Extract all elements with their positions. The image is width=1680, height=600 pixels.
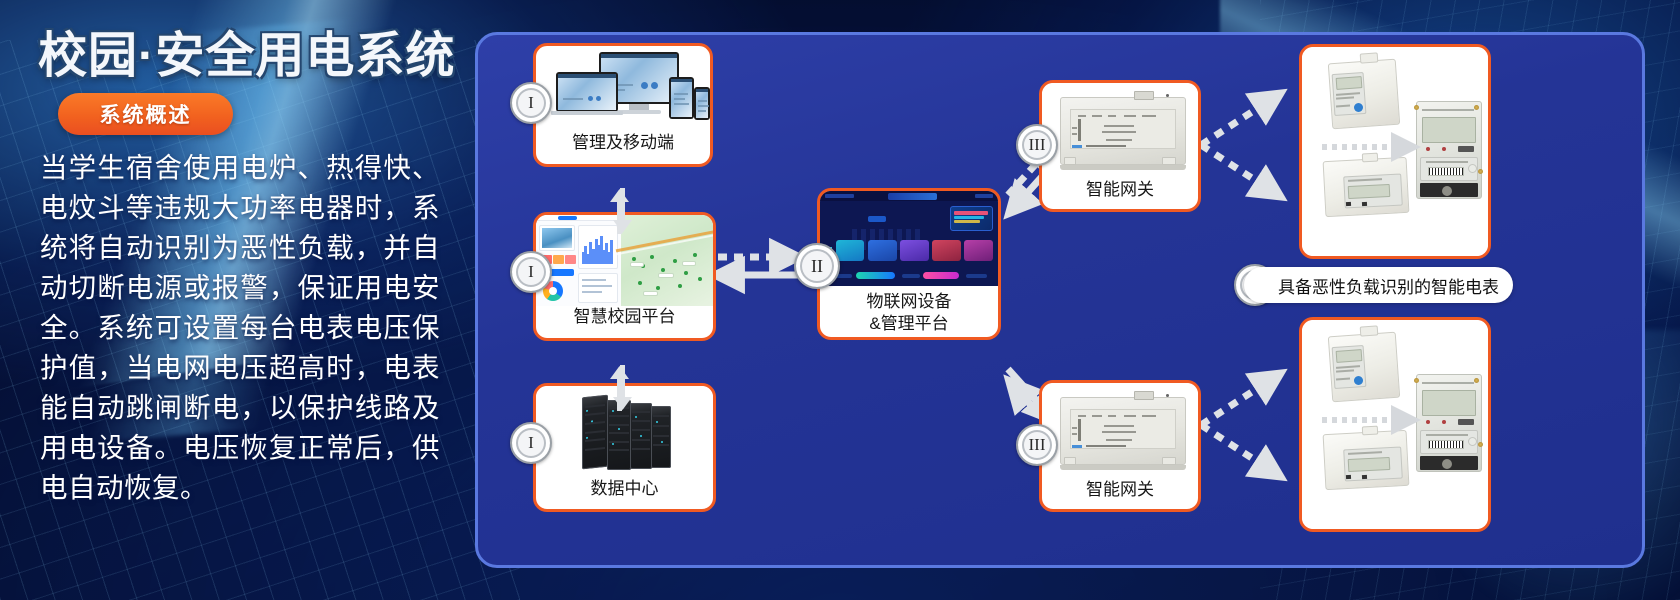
node-iot-label-line1: 物联网设备: [820, 291, 998, 313]
node-gateway-top-card[interactable]: 智能网关: [1039, 80, 1201, 212]
meters-top-thumbnail: [1302, 47, 1488, 256]
section-badge: 系统概述: [58, 93, 233, 135]
marker-gateway-bottom: III: [1016, 424, 1058, 466]
architecture-diagram-panel: 管理及移动端 I: [475, 32, 1645, 568]
meters-panel-top[interactable]: [1299, 44, 1491, 259]
left-info-column: 校园·安全用电系统 系统概述 当学生宿舍使用电炉、热得快、电炆斗等违规大功率电器…: [0, 0, 475, 600]
arrow-gateway-top-to-meters: [1201, 95, 1278, 195]
node-gateway-top-label: 智能网关: [1042, 179, 1198, 201]
node-iot-label-line2: &管理平台: [820, 313, 998, 335]
page-title: 校园·安全用电系统: [38, 16, 455, 87]
arrow-platform-to-iot: [718, 257, 798, 275]
node-management-label: 管理及移动端: [536, 132, 710, 154]
node-iot-card[interactable]: 物联网设备 &管理平台: [817, 188, 1001, 340]
node-gateway-bottom-label: 智能网关: [1042, 479, 1198, 501]
marker-iot: II: [794, 243, 840, 289]
meters-panel-bottom[interactable]: [1299, 317, 1491, 532]
meters-caption-pill[interactable]: 具备恶性负载识别的智能电表: [1244, 267, 1513, 303]
marker-datacenter: I: [510, 422, 552, 464]
node-gateway-bottom-card[interactable]: 智能网关: [1039, 380, 1201, 512]
arrow-management-platform: [606, 188, 640, 234]
meters-bottom-thumbnail: [1302, 320, 1488, 529]
node-management-card[interactable]: 管理及移动端: [533, 43, 713, 167]
gateway-top-thumbnail: [1042, 83, 1198, 179]
system-description: 当学生宿舍使用电炉、热得快、电炆斗等违规大功率电器时，系统将自动识别为恶性负载，…: [40, 148, 440, 508]
node-datacenter-label: 数据中心: [536, 478, 713, 500]
marker-platform: I: [510, 251, 552, 293]
arrow-platform-datacenter: [606, 365, 640, 411]
management-devices-thumbnail: [536, 46, 710, 132]
marker-management: I: [510, 82, 552, 124]
arrow-gateway-bottom-to-meters: [1201, 375, 1278, 475]
gateway-bottom-thumbnail: [1042, 383, 1198, 479]
node-platform-label: 智慧校园平台: [536, 306, 713, 328]
iot-dashboard-thumbnail: [820, 191, 998, 286]
meters-caption-text: 具备恶性负载识别的智能电表: [1278, 273, 1499, 298]
marker-gateway-top: III: [1016, 124, 1058, 166]
